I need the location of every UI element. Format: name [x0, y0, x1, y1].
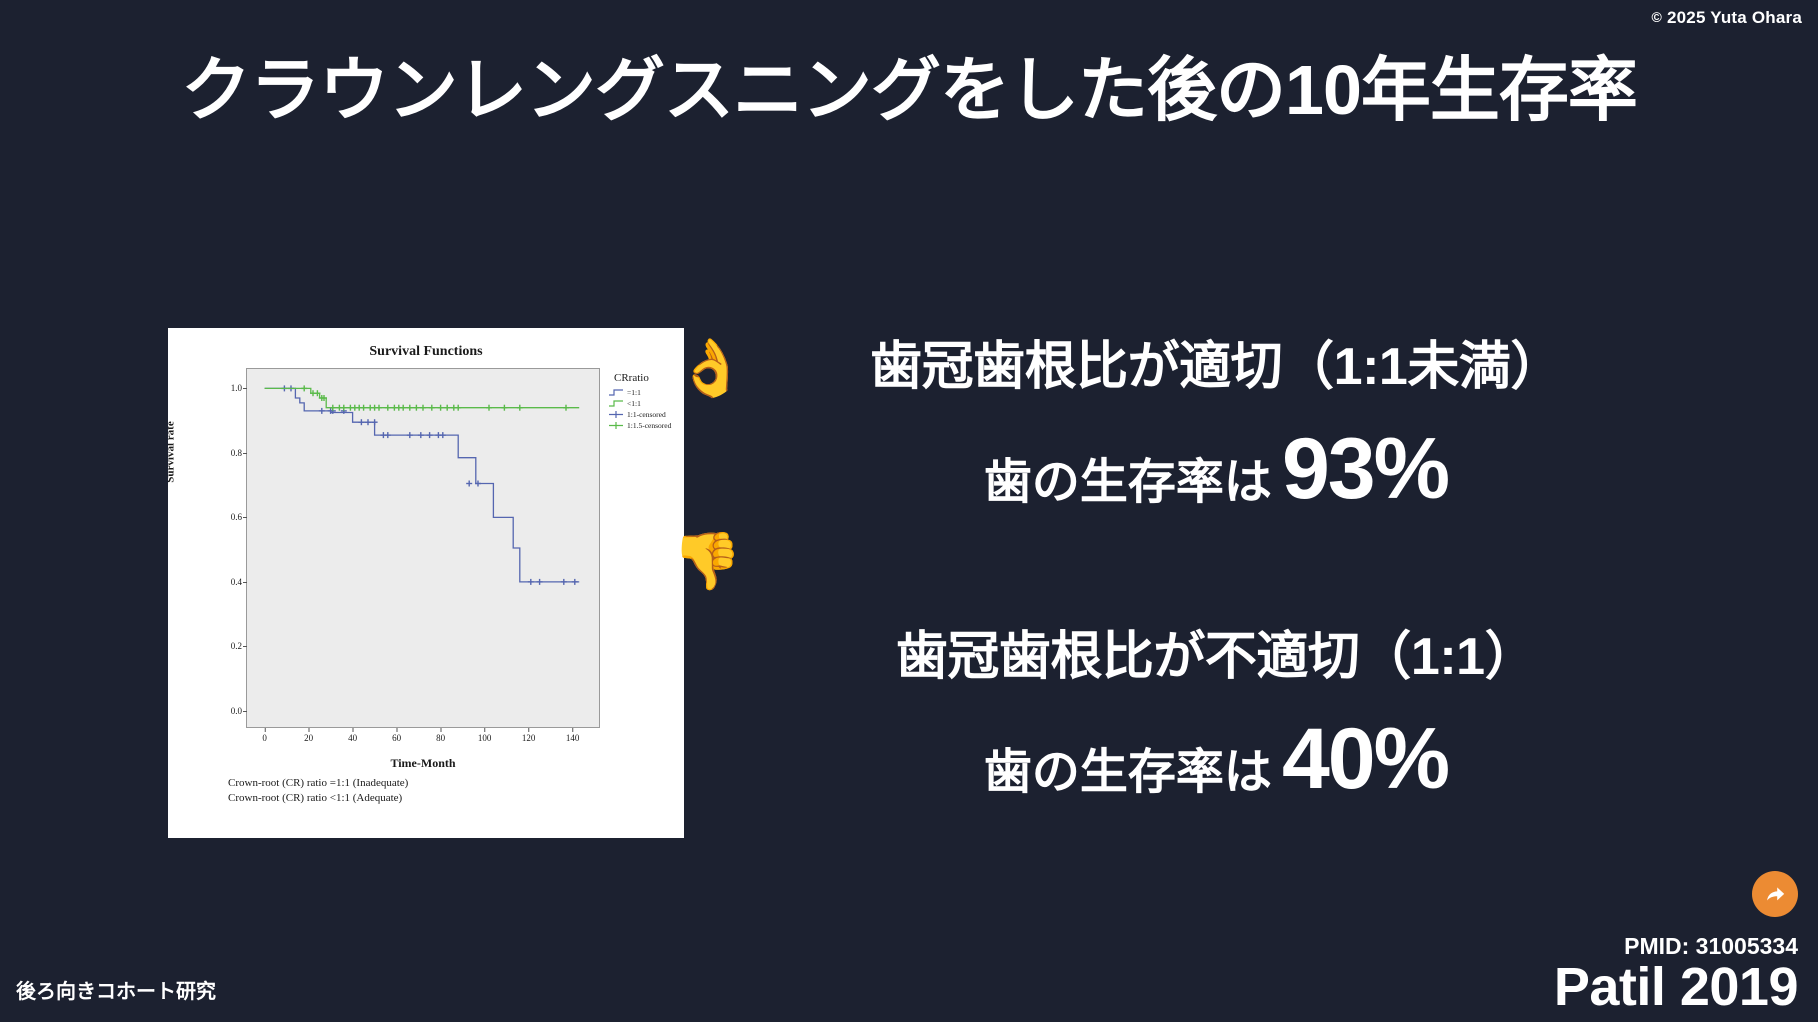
chart-x-tick: 20 [304, 733, 313, 743]
share-arrow-icon[interactable] [1752, 871, 1798, 917]
legend-swatch-icon [608, 421, 624, 430]
censor-marker [413, 405, 419, 411]
reference-label: Patil 2019 [1554, 956, 1798, 1018]
thumbs-down-icon: 👎 [672, 533, 742, 589]
censor-marker [440, 432, 446, 438]
copyright-text: 2025 Yuta Ohara [1667, 8, 1802, 27]
censor-marker [376, 405, 382, 411]
censor-marker [501, 405, 507, 411]
chart-legend-title: CRratio [608, 372, 684, 384]
figure-note-line: Crown-root (CR) ratio <1:1 (Adequate) [228, 791, 408, 806]
censor-marker [563, 405, 569, 411]
statement-inadequate-sub: 歯の生存率は 40% [766, 710, 1666, 809]
chart-x-tick: 40 [348, 733, 357, 743]
censor-marker [466, 481, 472, 487]
chart-y-tick: 0.2 [231, 641, 242, 651]
censor-marker [358, 419, 364, 425]
censor-marker [427, 432, 433, 438]
censor-marker [407, 432, 413, 438]
censor-marker [517, 405, 523, 411]
legend-swatch-icon [608, 399, 624, 408]
censor-marker [365, 419, 371, 425]
km-curve [265, 388, 580, 582]
chart-legend-item: 1:1.5-censored [608, 420, 684, 431]
censor-marker [418, 432, 424, 438]
statement-adequate-value: 93% [1282, 420, 1448, 519]
chart-y-tick: 0.4 [231, 577, 242, 587]
censor-marker [400, 405, 406, 411]
statement-adequate: 歯冠歯根比が適切（1:1未満） 歯の生存率は 93% [766, 338, 1666, 519]
chart-x-tick: 100 [478, 733, 492, 743]
censor-marker [438, 405, 444, 411]
censor-marker [407, 405, 413, 411]
statement-inadequate-value: 40% [1282, 710, 1448, 809]
figure-note-line: Crown-root (CR) ratio =1:1 (Inadequate) [228, 776, 408, 791]
ok-hand-icon: 👌 [676, 340, 746, 396]
figure-notes: Crown-root (CR) ratio =1:1 (Inadequate) … [228, 776, 408, 806]
legend-item-label: <1:1 [627, 399, 641, 408]
chart-legend-item: 1:1-censored [608, 409, 684, 420]
copyright-notice: © 2025 Yuta Ohara [1652, 8, 1802, 28]
chart-legend: CRratio =1:1<1:11:1-censored1:1.5-censor… [608, 372, 684, 431]
chart-y-tick: 0.0 [231, 706, 242, 716]
censor-marker [561, 579, 567, 585]
censor-marker [528, 579, 534, 585]
survival-chart-figure: Survival Functions Survival rate 0.00.20… [168, 328, 684, 838]
censor-marker [341, 405, 347, 411]
censor-marker [361, 405, 367, 411]
censor-marker [429, 405, 435, 411]
chart-x-tick: 80 [436, 733, 445, 743]
chart-x-tick: 140 [566, 733, 580, 743]
censor-marker [572, 579, 578, 585]
statement-adequate-sub: 歯の生存率は 93% [766, 420, 1666, 519]
statement-inadequate-heading: 歯冠歯根比が不適切（1:1） [766, 628, 1666, 688]
censor-marker [420, 405, 426, 411]
censor-marker [537, 579, 543, 585]
km-curve [265, 388, 580, 407]
statement-adequate-heading: 歯冠歯根比が適切（1:1未満） [766, 338, 1666, 398]
chart-x-tick: 60 [392, 733, 401, 743]
chart-x-tick: 0 [262, 733, 267, 743]
slide-root: © 2025 Yuta Ohara クラウンレングスニングをした後の10年生存率… [0, 0, 1818, 1022]
chart-title: Survival Functions [168, 344, 684, 360]
censor-marker [372, 419, 378, 425]
statement-adequate-prefix: 歯の生存率は [984, 442, 1272, 512]
copyright-symbol: © [1652, 9, 1663, 25]
chart-x-tick: 120 [522, 733, 536, 743]
chart-y-tick: 0.6 [231, 512, 242, 522]
chart-plot-area: 0.00.20.40.60.81.0 020406080100120140 [246, 368, 600, 728]
censor-marker [486, 405, 492, 411]
censor-marker [385, 405, 391, 411]
legend-item-label: =1:1 [627, 388, 641, 397]
legend-item-label: 1:1-censored [627, 410, 666, 419]
statement-inadequate-prefix: 歯の生存率は [984, 732, 1272, 802]
censor-marker [455, 405, 461, 411]
legend-swatch-icon [608, 388, 624, 397]
chart-legend-item: =1:1 [608, 387, 684, 398]
chart-y-tick: 1.0 [231, 383, 242, 393]
chart-y-axis-label: Survival rate [168, 421, 177, 482]
legend-swatch-icon [608, 410, 624, 419]
chart-x-axis-label: Time-Month [246, 756, 600, 771]
legend-item-label: 1:1.5-censored [627, 421, 671, 430]
censor-marker [385, 432, 391, 438]
study-type-label: 後ろ向きコホート研究 [16, 975, 216, 1004]
censor-marker [319, 408, 325, 414]
censor-marker [301, 385, 307, 391]
statement-inadequate: 歯冠歯根比が不適切（1:1） 歯の生存率は 40% [766, 628, 1666, 809]
chart-y-tick: 0.8 [231, 448, 242, 458]
censor-marker [444, 405, 450, 411]
page-title: クラウンレングスニングをした後の10年生存率 [0, 52, 1818, 129]
chart-legend-item: <1:1 [608, 398, 684, 409]
kaplan-meier-curves [247, 369, 599, 727]
